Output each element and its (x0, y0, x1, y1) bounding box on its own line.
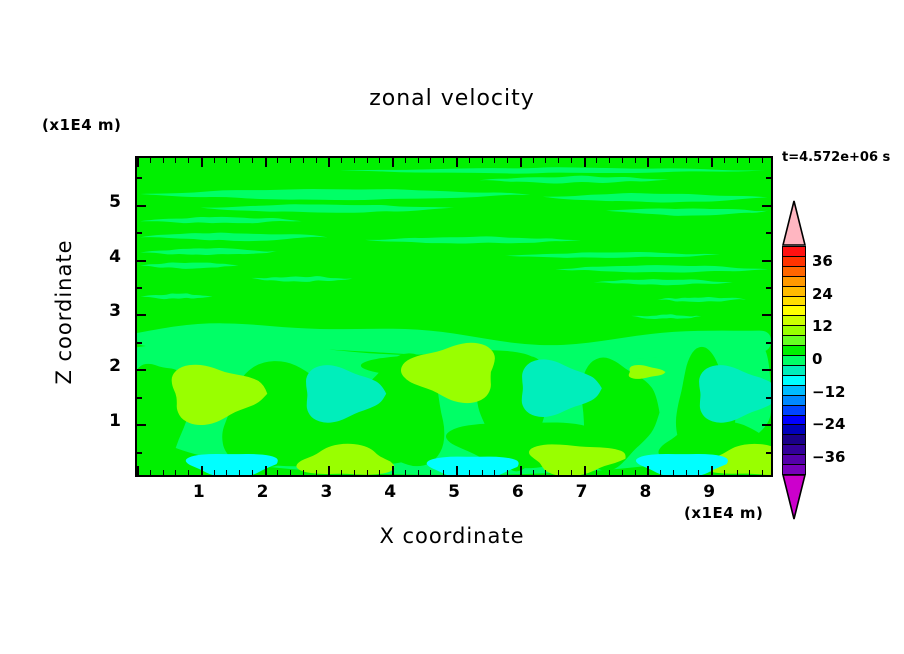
axis-tick (379, 158, 380, 163)
axis-tick (303, 470, 304, 475)
axis-tick (201, 158, 203, 167)
colorbar (782, 200, 806, 520)
colorbar-tick-label: 36 (812, 252, 833, 270)
axis-tick (494, 470, 495, 475)
y-axis-unit-label: (x1E4 m) (42, 116, 121, 134)
axis-tick (482, 158, 483, 163)
axis-tick (766, 232, 771, 234)
axis-tick (622, 470, 623, 475)
axis-tick (724, 470, 725, 475)
axis-tick (214, 470, 215, 475)
axis-tick (316, 158, 317, 163)
axis-tick (201, 466, 203, 475)
axis-tick (647, 158, 649, 167)
axis-tick (239, 470, 240, 475)
axis-tick (558, 470, 559, 475)
axis-tick (749, 470, 750, 475)
axis-tick (762, 314, 771, 316)
axis-tick (686, 158, 687, 163)
axis-tick (711, 158, 713, 167)
axis-tick (214, 158, 215, 163)
axis-tick (673, 158, 674, 163)
axis-tick (137, 287, 142, 289)
axis-tick (163, 470, 164, 475)
axis-tick (584, 158, 586, 167)
colorbar-under-arrow (782, 474, 806, 520)
axis-tick (762, 260, 771, 262)
axis-tick (188, 470, 189, 475)
axis-tick (766, 342, 771, 344)
axis-tick (749, 158, 750, 163)
axis-tick (354, 158, 355, 163)
axis-tick (456, 466, 458, 475)
axis-tick (737, 158, 738, 163)
axis-tick (660, 470, 661, 475)
axis-tick (469, 470, 470, 475)
y-tick-label: 1 (95, 411, 121, 431)
axis-tick (698, 470, 699, 475)
axis-tick (405, 470, 406, 475)
axis-tick (584, 466, 586, 475)
axis-tick (341, 470, 342, 475)
x-tick-label: 4 (370, 482, 410, 502)
axis-tick (392, 466, 394, 475)
axis-tick (762, 470, 763, 475)
axis-tick (367, 470, 368, 475)
axis-tick (660, 158, 661, 163)
axis-tick (328, 158, 330, 167)
axis-tick (175, 158, 176, 163)
axis-tick (226, 158, 227, 163)
axis-tick (762, 369, 771, 371)
axis-tick (766, 287, 771, 289)
axis-tick (137, 342, 142, 344)
axis-tick (150, 158, 151, 163)
axis-tick (341, 158, 342, 163)
axis-tick (137, 369, 146, 371)
axis-tick (711, 466, 713, 475)
axis-tick (724, 158, 725, 163)
axis-tick (762, 158, 763, 163)
chart-title: zonal velocity (0, 86, 904, 111)
axis-tick (622, 158, 623, 163)
axis-tick (239, 158, 240, 163)
axis-tick (533, 158, 534, 163)
colorbar-tick-label: −12 (812, 383, 845, 401)
axis-tick (418, 470, 419, 475)
x-tick-label: 1 (179, 482, 219, 502)
y-tick-label: 5 (95, 192, 121, 212)
x-tick-label: 5 (434, 482, 474, 502)
axis-tick (265, 466, 267, 475)
y-tick-label: 2 (95, 356, 121, 376)
axis-tick (226, 470, 227, 475)
axis-tick (367, 158, 368, 163)
axis-tick (443, 470, 444, 475)
axis-tick (673, 470, 674, 475)
axis-tick (533, 470, 534, 475)
y-tick-label: 3 (95, 301, 121, 321)
x-tick-label: 6 (498, 482, 538, 502)
axis-tick (290, 470, 291, 475)
x-tick-label: 9 (689, 482, 729, 502)
axis-tick (762, 205, 771, 207)
axis-tick (494, 158, 495, 163)
axis-tick (766, 452, 771, 454)
axis-tick (137, 177, 142, 179)
axis-tick (686, 470, 687, 475)
y-axis-title: Z coordinate (52, 222, 76, 402)
axis-tick (766, 397, 771, 399)
x-tick-label: 8 (625, 482, 665, 502)
colorbar-tick-label: −24 (812, 415, 845, 433)
axis-tick (635, 158, 636, 163)
axis-tick (609, 158, 610, 163)
axis-tick (571, 470, 572, 475)
axis-tick (507, 158, 508, 163)
axis-tick (558, 158, 559, 163)
axis-tick (596, 158, 597, 163)
axis-tick (545, 158, 546, 163)
axis-tick (137, 260, 146, 262)
axis-tick (277, 470, 278, 475)
x-tick-label: 7 (562, 482, 602, 502)
axis-tick (698, 158, 699, 163)
axis-tick (545, 470, 546, 475)
axis-tick (316, 470, 317, 475)
axis-tick (405, 158, 406, 163)
axis-tick (137, 232, 142, 234)
axis-tick (188, 158, 189, 163)
colorbar-tick-label: −36 (812, 448, 845, 466)
axis-tick (137, 466, 139, 475)
axis-tick (137, 205, 146, 207)
axis-tick (596, 470, 597, 475)
x-axis-title: X coordinate (0, 524, 904, 548)
axis-tick (379, 470, 380, 475)
x-tick-label: 2 (243, 482, 283, 502)
axis-tick (762, 424, 771, 426)
colorbar-tick-label: 12 (812, 317, 833, 335)
axis-tick (456, 158, 458, 167)
contour-plot-area (135, 156, 773, 477)
axis-tick (303, 158, 304, 163)
axis-tick (137, 452, 142, 454)
y-tick-label: 4 (95, 247, 121, 267)
colorbar-tick-label: 24 (812, 285, 833, 303)
axis-tick (265, 158, 267, 167)
axis-tick (520, 466, 522, 475)
colorbar-over-arrow (782, 200, 806, 246)
axis-tick (609, 470, 610, 475)
timestamp-annotation: t=4.572e+06 s (782, 150, 890, 165)
axis-tick (443, 158, 444, 163)
axis-tick (137, 397, 142, 399)
x-tick-label: 3 (306, 482, 346, 502)
axis-tick (635, 470, 636, 475)
axis-tick (469, 158, 470, 163)
axis-tick (354, 470, 355, 475)
axis-tick (520, 158, 522, 167)
axis-tick (737, 470, 738, 475)
axis-tick (430, 470, 431, 475)
axis-tick (252, 470, 253, 475)
axis-tick (137, 424, 146, 426)
axis-tick (766, 177, 771, 179)
axis-tick (150, 470, 151, 475)
axis-tick (571, 158, 572, 163)
axis-tick (163, 158, 164, 163)
axis-tick (328, 466, 330, 475)
axis-tick (175, 470, 176, 475)
axis-tick (418, 158, 419, 163)
axis-tick (392, 158, 394, 167)
x-axis-unit-label: (x1E4 m) (684, 504, 763, 522)
axis-tick (507, 470, 508, 475)
axis-tick (277, 158, 278, 163)
axis-tick (430, 158, 431, 163)
axis-tick (482, 470, 483, 475)
axis-tick (252, 158, 253, 163)
contour-field (137, 158, 771, 475)
axis-tick (647, 466, 649, 475)
axis-tick (137, 158, 139, 167)
axis-tick (137, 314, 146, 316)
axis-tick (290, 158, 291, 163)
colorbar-tick-label: 0 (812, 350, 822, 368)
